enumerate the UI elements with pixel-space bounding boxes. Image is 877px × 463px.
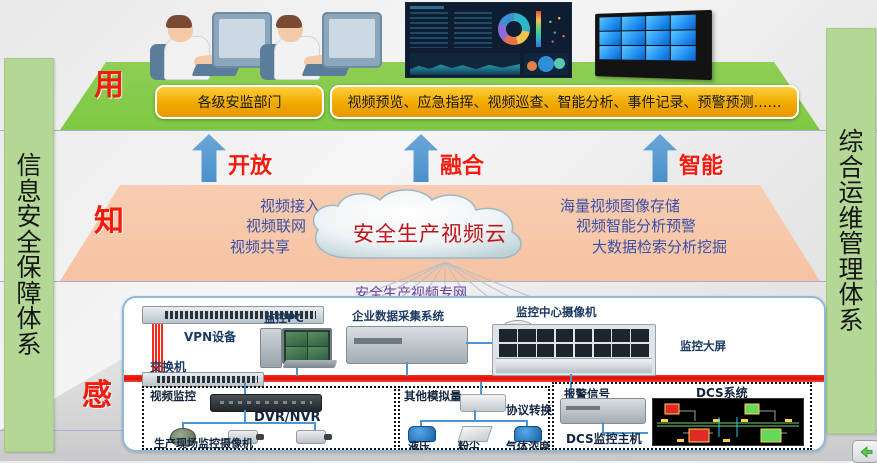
dashboard-title-bar	[410, 6, 444, 9]
analytics-dashboard-thumbnail	[405, 2, 572, 78]
pc-monitor-icon	[282, 328, 332, 364]
top-illustrations	[150, 4, 770, 80]
sensor-drop-2	[474, 410, 476, 420]
data-collector-icon	[346, 326, 468, 364]
architecture-diagram: 信息安全保障体系 综合运维管理体系 用	[0, 0, 877, 461]
banner-left-c0: 信	[16, 153, 41, 179]
banner-right-c5: 理	[838, 257, 863, 283]
monitor-screen	[329, 19, 375, 58]
cloud-capabilities-left: 视频接入 视频联网 视频共享	[140, 196, 320, 257]
dashboard-donut-chart	[498, 13, 530, 45]
arrow-intelligent	[643, 134, 677, 182]
banner-right-c3: 维	[838, 206, 863, 232]
dashboard-bubble-chart	[524, 53, 568, 75]
dcs-host-icon	[560, 398, 646, 424]
sensing-layer-panel: VPN设备 交换机 监控PC 企业数据采集系统 监控中心摄像机 监控大屏	[122, 296, 826, 452]
control-room-screens	[499, 329, 648, 357]
monitor-icon	[322, 12, 382, 68]
left-banner: 信息安全保障体系	[4, 58, 54, 452]
banner-right-c1: 合	[838, 155, 863, 181]
label-protocol-convert: 协议转换	[506, 402, 552, 418]
banner-left-c1: 息	[16, 179, 41, 205]
banner-right-c0: 综	[838, 129, 863, 155]
banner-left-c3: 全	[16, 230, 41, 256]
banner-right-c6: 体	[838, 282, 863, 308]
arrow-open	[192, 134, 226, 182]
person-hair	[276, 15, 302, 28]
bubble-small	[527, 61, 537, 71]
layer-label-sense: 感	[82, 370, 112, 414]
label-dcs-host: DCS监控主机	[566, 430, 642, 447]
arrow-fusion	[404, 134, 438, 182]
label-big-screen: 监控大屏	[680, 338, 726, 354]
dashboard-scatter-chart	[546, 11, 568, 47]
label-video-monitoring: 视频监控	[150, 388, 196, 404]
dvr-uplink	[244, 382, 246, 394]
label-gas: 气体浓度	[506, 438, 550, 452]
pc-tower-icon	[260, 328, 282, 368]
layer-label-use: 用	[94, 60, 124, 104]
camera-drop-2	[244, 410, 246, 422]
protocol-converter-icon	[460, 394, 506, 412]
control-room-desk	[496, 358, 652, 373]
dashboard-area-chart	[410, 53, 520, 75]
label-hydraulic: 液压	[408, 438, 430, 452]
label-vpn: VPN设备	[184, 328, 236, 345]
banner-left-c6: 体	[16, 306, 41, 332]
pill-application-functions[interactable]: 视频预览、应急指挥、视频巡查、智能分析、事件记录、预警预测……	[330, 85, 799, 119]
label-data-collector: 企业数据采集系统	[352, 308, 444, 324]
arrow-label-open: 开放	[228, 148, 272, 180]
capability-video-share: 视频共享	[140, 237, 320, 257]
banner-right-c7: 系	[838, 308, 863, 334]
label-monitoring-pc: 监控PC	[264, 310, 304, 326]
operator-workstation-2	[260, 6, 380, 80]
arrow-label-intelligent: 智能	[679, 148, 723, 180]
label-field-camera: 生产现场监控摄像机	[154, 435, 253, 451]
operator-workstation-1	[150, 6, 270, 80]
monitor-screen	[219, 19, 265, 58]
video-wall-image	[595, 10, 712, 80]
label-center-camera: 监控中心摄像机	[516, 304, 597, 320]
banner-right-c4: 管	[838, 231, 863, 257]
bullet-camera-2-icon	[296, 430, 326, 444]
back-navigation-button[interactable]	[852, 440, 877, 463]
camera-drop-3	[314, 422, 316, 430]
capability-mass-storage: 海量视频图像存储	[560, 196, 805, 216]
dashboard-table-left	[410, 12, 448, 48]
person-hair	[166, 15, 192, 28]
converter-uplink	[480, 382, 482, 394]
cloud-capabilities-right: 海量视频图像存储 视频智能分析预警 大数据检索分析挖掘	[560, 196, 805, 257]
video-wall-grid	[599, 15, 695, 61]
bubble-large	[538, 56, 554, 72]
pc-keyboard-icon	[283, 360, 338, 368]
label-switch: 交换机	[150, 358, 186, 375]
control-room-image	[492, 324, 656, 376]
sensor-bus	[420, 420, 526, 422]
camera-bus	[182, 422, 314, 424]
banner-left-c7: 系	[16, 332, 41, 358]
collector-link	[406, 362, 408, 376]
green-left-arrow-icon	[859, 446, 873, 458]
arrow-label-fusion: 融合	[440, 148, 484, 180]
banner-left-c5: 障	[16, 281, 41, 307]
capability-video-network: 视频联网	[140, 216, 320, 236]
bubble-medium	[554, 58, 565, 69]
video-cloud-title: 安全生产视频云	[300, 218, 560, 248]
banner-left-c4: 保	[16, 255, 41, 281]
capability-video-access: 视频接入	[140, 196, 320, 216]
dashboard-color-scale	[536, 11, 541, 47]
capability-bigdata-mining: 大数据检索分析挖掘	[560, 237, 805, 257]
capability-intelligent-alert: 视频智能分析预警	[560, 216, 805, 236]
dcs-hmi-screen	[652, 398, 804, 446]
dashboard-table-right	[454, 12, 492, 48]
plane-divider-top	[0, 130, 877, 131]
right-banner: 综合运维管理体系	[826, 28, 876, 434]
pill-safety-departments[interactable]: 各级安监部门	[155, 85, 324, 119]
pc-link	[296, 368, 298, 376]
banner-left-c2: 安	[16, 204, 41, 230]
layer-label-know: 知	[94, 196, 124, 240]
label-other-analog: 其他模拟量	[404, 388, 462, 404]
banner-right-c2: 运	[838, 180, 863, 206]
label-dust: 粉尘	[458, 438, 480, 452]
